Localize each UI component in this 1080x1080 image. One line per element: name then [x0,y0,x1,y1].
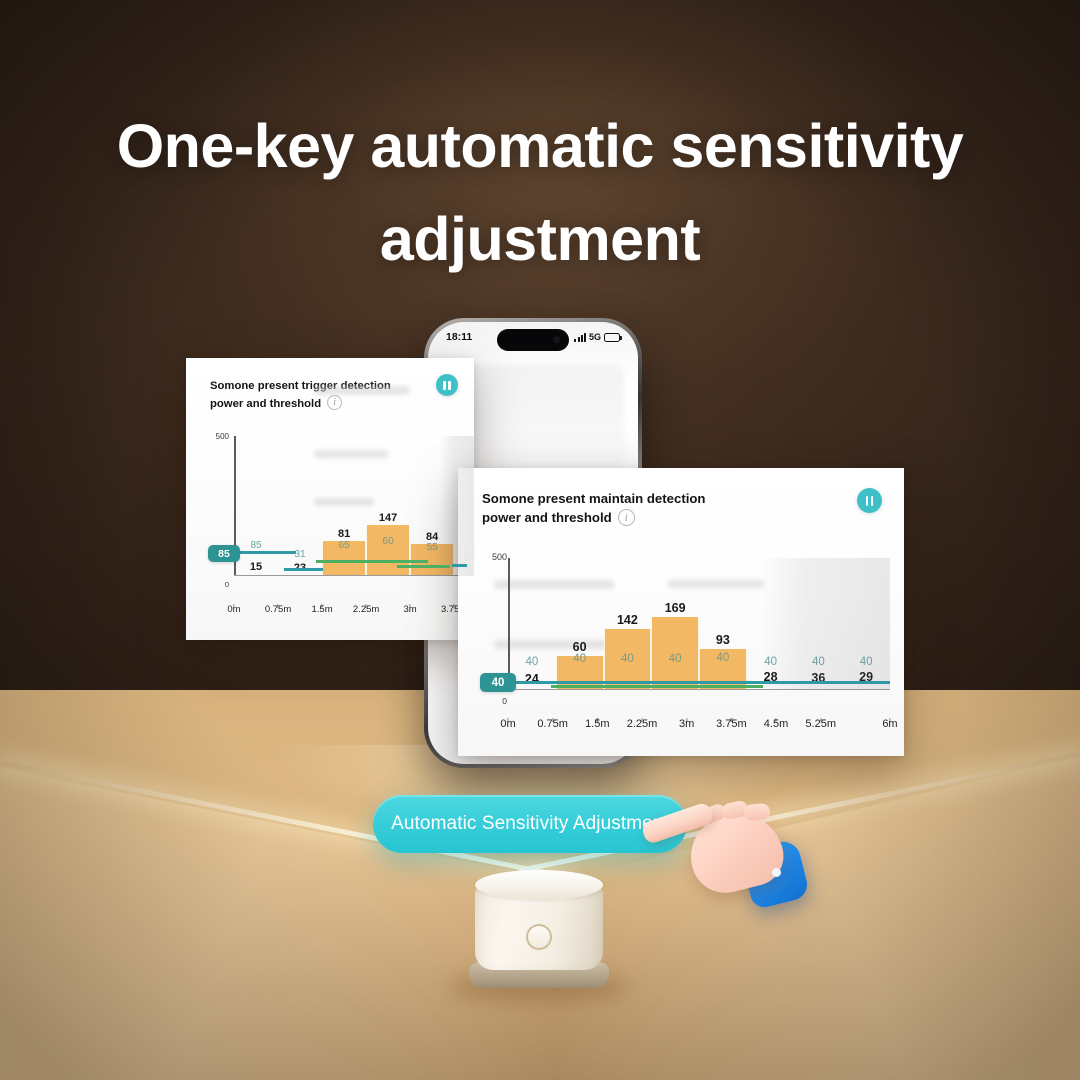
bar-group-3m[interactable]: 93 40 [699,558,747,689]
power-bar: 40 [651,617,699,689]
presence-sensor-device [465,868,613,998]
threshold-label: 40 [669,653,682,665]
y-axis-max-label: 500 [483,552,507,562]
x-tick-label: 3m [404,604,417,615]
threshold-line-segment [234,551,296,554]
battery-icon [604,333,620,342]
power-bar [842,685,890,689]
power-label: 142 [617,613,638,627]
page-title: One-key automatic sensitivity adjustment [0,100,1080,285]
bar-group-2.25m[interactable]: 147 60 [366,436,410,575]
x-tick: 6m [865,716,890,736]
threshold-line-segment [284,568,322,571]
threshold-label: 40 [716,652,729,664]
power-label: 93 [716,633,730,647]
power-bar: 65 [322,541,366,575]
threshold-label: 40 [573,653,586,665]
threshold-line-segment [452,564,466,567]
x-tick-label: 1.5m [312,604,333,615]
cuff-button [772,868,781,877]
maintain-chart: 500 0 40 24 60 40 [484,544,890,736]
threshold-label: 60 [383,536,394,547]
x-tick-label: 0.75m [265,604,291,615]
power-label: 147 [379,512,397,524]
pointing-hand-icon [672,792,812,912]
power-button-icon[interactable] [526,924,552,950]
x-tick-label: 0m [227,604,240,615]
x-tick-label: 1.5m [585,718,609,730]
info-icon[interactable]: i [618,509,635,526]
x-tick-label: 2.25m [353,604,379,615]
power-bar [278,571,322,575]
maintain-detection-card: Somone present maintain detection power … [458,468,904,756]
dynamic-island [497,329,569,351]
threshold-label: 40 [860,656,873,668]
trigger-card-title: Somone present trigger detection power a… [210,380,391,410]
x-tick-label: 6m [882,718,897,730]
status-bar-time: 18:11 [446,331,472,343]
bar-group-1.5m[interactable]: 142 40 [604,558,652,689]
trigger-chart: 500 0 85 15 31 23 81 [210,422,474,622]
trigger-x-axis: 0m 0.75m 1.5m 2.25m 3m 3.75m [234,602,474,622]
threshold-label: 40 [525,656,538,668]
maintain-card-header: Somone present maintain detection power … [458,468,904,527]
threshold-label: 40 [621,653,634,665]
power-label: 81 [338,528,350,540]
status-bar-indicators: 5G [574,332,620,342]
y-axis-min-label: 0 [207,580,229,589]
power-bar [234,571,278,575]
bar-group-4.5m[interactable]: 40 36 [795,558,843,689]
bar-group-0m[interactable]: 85 15 [234,436,278,575]
threshold-label: 40 [812,656,825,668]
bar-group-3.75m[interactable]: 40 28 [747,558,795,689]
x-tick-label: 3m [679,718,694,730]
y-axis-min-label: 0 [483,696,507,706]
threshold-line-segment [397,565,450,568]
automatic-sensitivity-adjustment-button[interactable]: Automatic Sensitivity Adjustment [373,795,687,853]
x-tick-label: 3.75m [716,718,747,730]
threshold-badge[interactable]: 85 [208,545,240,562]
threshold-line-segment [316,560,429,563]
threshold-label: 55 [427,542,438,553]
bar-group-0.75m[interactable]: 31 23 [278,436,322,575]
threshold-line-main [508,681,890,684]
x-tick-label: 0m [500,718,515,730]
bar-group-2.25m[interactable]: 169 40 [651,558,699,689]
threshold-label: 40 [764,656,777,668]
threshold-label: 65 [339,540,350,551]
x-tick: 5.25m [821,716,866,736]
threshold-label: 85 [250,540,261,551]
maintain-x-axis: 0m 0.75m 1.5m 2.25m 3m 3.75m 4.5m 5.25m … [508,716,890,736]
device-top-cap [475,870,603,900]
trigger-detection-card: Somone present trigger detection power a… [186,358,474,640]
bar-group-0.75m[interactable]: 60 40 [556,558,604,689]
bar-group-1.5m[interactable]: 81 65 [322,436,366,575]
y-axis-max-label: 500 [207,432,229,441]
bar-group-5.25m[interactable]: 40 29 [842,558,890,689]
network-label: 5G [589,332,601,342]
info-icon[interactable]: i [327,395,342,410]
hand-knuckle [743,803,770,821]
x-tick-label: 4.5m [764,718,788,730]
threshold-badge[interactable]: 40 [480,673,516,692]
power-label: 169 [665,601,686,615]
power-bar [795,685,843,689]
power-label: 60 [573,640,587,654]
maintain-card-title: Somone present maintain detection power … [482,491,706,525]
pause-icon[interactable] [436,374,458,396]
trigger-bars: 85 15 31 23 81 65 [234,436,474,575]
x-tick-label: 0.75m [537,718,568,730]
maintain-plot-area: 40 24 60 40 142 40 [508,558,890,710]
trigger-plot-area: 85 15 31 23 81 65 [234,436,474,596]
bar-group-3m[interactable]: 84 55 [410,436,454,575]
maintain-bars: 40 24 60 40 142 40 [508,558,890,689]
x-tick-label: 5.25m [805,718,836,730]
x-tick-label: 2.25m [627,718,658,730]
bar-group-0m[interactable]: 40 24 [508,558,556,689]
ghost-placeholder [314,386,410,395]
threshold-line-in-bars [551,685,763,688]
cellular-bars-icon [574,333,586,342]
pause-icon[interactable] [857,488,882,513]
